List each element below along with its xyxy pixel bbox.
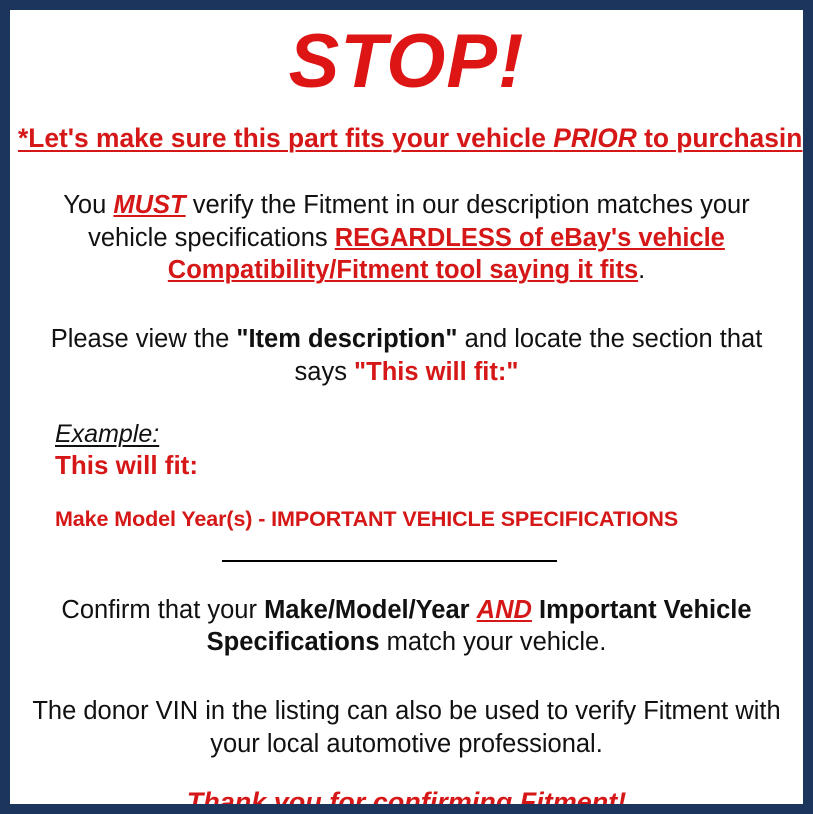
confirm-paragraph: Confirm that your Make/Model/Year AND Im… bbox=[10, 594, 803, 659]
divider-row bbox=[10, 560, 803, 564]
example-label: Example: bbox=[55, 420, 159, 449]
thank-you-line: Thank you for confirming Fitment! bbox=[10, 786, 803, 814]
must-paragraph-seg1: You bbox=[63, 191, 113, 219]
notice-card-inner: STOP! *Let's make sure this part fits yo… bbox=[10, 24, 803, 814]
example-fit-heading: This will fit: bbox=[55, 451, 803, 481]
vin-paragraph: The donor VIN in the listing can also be… bbox=[10, 695, 803, 760]
section-divider bbox=[222, 560, 557, 562]
page-title: STOP! bbox=[10, 24, 803, 100]
this-will-fit-quote: "This will fit:" bbox=[354, 358, 518, 386]
example-spec-line: Make Model Year(s) - IMPORTANT VEHICLE S… bbox=[55, 507, 803, 532]
confirm-space-b bbox=[532, 596, 539, 624]
confirm-seg1: Confirm that your bbox=[61, 596, 264, 624]
example-block: Example: This will fit: Make Model Year(… bbox=[10, 420, 803, 531]
subtitle-tail-text: to purchasing* bbox=[637, 123, 813, 153]
subtitle-banner: *Let's make sure this part fits your veh… bbox=[12, 124, 801, 153]
subtitle-lead-text: *Let's make sure this part fits your veh… bbox=[18, 123, 553, 153]
confirm-seg2: match your vehicle. bbox=[380, 628, 607, 656]
example-label-row: Example: bbox=[55, 420, 803, 449]
must-emphasis: MUST bbox=[113, 191, 185, 219]
subtitle-emphasis-prior: PRIOR bbox=[553, 123, 637, 153]
item-description-quote: "Item description" bbox=[236, 325, 457, 353]
confirm-space-a bbox=[470, 596, 477, 624]
fitment-notice-card: STOP! *Let's make sure this part fits yo… bbox=[0, 0, 813, 814]
and-emphasis: AND bbox=[477, 596, 532, 624]
item-description-paragraph: Please view the "Item description" and l… bbox=[10, 323, 803, 388]
must-paragraph-seg3: . bbox=[638, 256, 645, 284]
must-verify-paragraph: You MUST verify the Fitment in our descr… bbox=[10, 189, 803, 287]
item-description-seg1: Please view the bbox=[51, 325, 237, 353]
make-model-year-emphasis: Make/Model/Year bbox=[264, 596, 470, 624]
